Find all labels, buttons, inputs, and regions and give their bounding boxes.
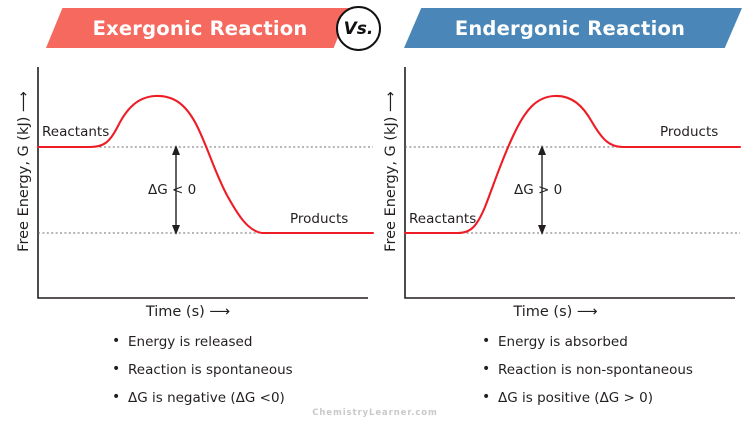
exergonic-panel: Free Energy, G (kJ) ⟶ Reactants Products… <box>0 56 375 429</box>
y-axis-title-text: Free Energy, G (kJ) <box>383 117 399 252</box>
y-axis-title-text: Free Energy, G (kJ) <box>16 117 32 252</box>
y-axis-arrow-icon: ⟶ <box>383 92 399 112</box>
endergonic-panel: Free Energy, G (kJ) ⟶ Reactants Products… <box>375 56 750 429</box>
delta-g-label: ΔG < 0 <box>148 182 196 198</box>
exergonic-chart: Free Energy, G (kJ) ⟶ Reactants Products… <box>0 56 375 326</box>
y-axis-title: Free Energy, G (kJ) ⟶ <box>16 72 32 272</box>
products-label: Products <box>290 211 348 227</box>
x-axis-title: Time (s) ⟶ <box>375 304 735 320</box>
x-axis-title-text: Time (s) <box>146 304 205 320</box>
endergonic-chart: Free Energy, G (kJ) ⟶ Reactants Products… <box>375 56 750 326</box>
vs-label: Vs. <box>344 19 374 39</box>
y-axis-arrow-icon: ⟶ <box>16 92 32 112</box>
list-item: ΔG is positive (ΔG > 0) <box>482 390 750 407</box>
x-axis-title: Time (s) ⟶ <box>0 304 375 320</box>
endergonic-bullet-list: Energy is absorbed Reaction is non-spont… <box>375 334 750 418</box>
products-label: Products <box>660 124 718 140</box>
endergonic-title-text: Endergonic Reaction <box>455 17 685 40</box>
watermark: ChemistryLearner.com <box>0 408 750 418</box>
endergonic-title-banner: Endergonic Reaction <box>404 8 742 48</box>
reactants-label: Reactants <box>42 124 109 140</box>
list-item: Energy is absorbed <box>482 334 750 351</box>
reactants-label: Reactants <box>409 211 476 227</box>
delta-g-label: ΔG > 0 <box>514 182 562 198</box>
x-axis-arrow-icon: ⟶ <box>209 304 229 320</box>
x-axis-title-text: Time (s) <box>513 304 572 320</box>
exergonic-title-banner: Exergonic Reaction <box>46 8 350 48</box>
axis-lines <box>38 67 368 298</box>
vs-badge: Vs. <box>336 6 381 51</box>
x-axis-arrow-icon: ⟶ <box>577 304 597 320</box>
exergonic-title-text: Exergonic Reaction <box>93 17 308 40</box>
axis-lines <box>405 67 735 298</box>
endergonic-chart-svg <box>375 56 750 326</box>
y-axis-title: Free Energy, G (kJ) ⟶ <box>383 72 399 272</box>
header-banner-row: Exergonic Reaction Vs. Endergonic Reacti… <box>0 0 750 56</box>
list-item: Reaction is non-spontaneous <box>482 362 750 379</box>
